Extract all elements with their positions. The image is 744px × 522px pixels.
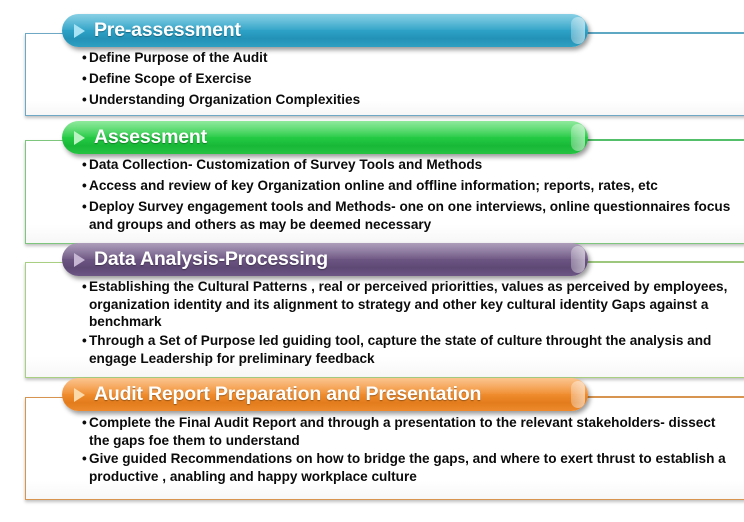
bullet-glyph: • (82, 450, 89, 468)
list-item-text: Define Scope of Exercise (89, 70, 738, 88)
section-header-data-analysis-processing[interactable]: Data Analysis-Processing (62, 243, 588, 276)
play-triangle-icon (74, 388, 85, 402)
list-item: • Through a Set of Purpose led guiding t… (82, 332, 738, 367)
section-bullet-list-audit-report: • Complete the Final Audit Report and th… (82, 414, 738, 487)
section-bullet-list-data-analysis-processing: • Establishing the Cultural Patterns , r… (82, 278, 738, 368)
list-item-text: Give guided Recommendations on how to br… (89, 450, 738, 485)
bar-end-cap (571, 124, 585, 151)
bullet-glyph: • (82, 198, 89, 216)
section-header-audit-report[interactable]: Audit Report Preparation and Presentatio… (62, 378, 588, 411)
slide-canvas: Pre-assessment • Define Purpose of the A… (0, 0, 744, 522)
list-item: • Define Scope of Exercise (82, 70, 738, 88)
section-heading-label: Pre-assessment (94, 19, 241, 42)
list-item: • Define Purpose of the Audit (82, 49, 738, 67)
bullet-glyph: • (82, 414, 89, 432)
bullet-glyph: • (82, 156, 89, 174)
list-item-text: Understanding Organization Complexities (89, 91, 738, 109)
section-header-assessment[interactable]: Assessment (62, 121, 588, 154)
list-item-text: Define Purpose of the Audit (89, 49, 738, 67)
bullet-glyph: • (82, 278, 89, 296)
bullet-glyph: • (82, 91, 89, 109)
section-connector-line-audit-report (585, 396, 744, 398)
list-item: • Understanding Organization Complexitie… (82, 91, 738, 109)
bullet-glyph: • (82, 177, 89, 195)
section-heading-label: Data Analysis-Processing (94, 248, 328, 271)
bar-end-cap (571, 246, 585, 273)
list-item-text: Access and review of key Organization on… (89, 177, 738, 195)
section-bullet-list-assessment: • Data Collection- Customization of Surv… (82, 156, 738, 237)
section-connector-line-data-analysis-processing (585, 261, 744, 263)
bullet-glyph: • (82, 70, 89, 88)
list-item-text: Establishing the Cultural Patterns , rea… (89, 278, 738, 331)
list-item-text: Complete the Final Audit Report and thro… (89, 414, 738, 449)
section-connector-line-pre-assessment (585, 32, 744, 34)
list-item-text: Deploy Survey engagement tools and Metho… (89, 198, 738, 233)
bullet-glyph: • (82, 49, 89, 67)
section-bullet-list-pre-assessment: • Define Purpose of the Audit • Define S… (82, 49, 738, 113)
play-triangle-icon (74, 253, 85, 267)
section-connector-line-assessment (585, 139, 744, 141)
section-header-pre-assessment[interactable]: Pre-assessment (62, 14, 588, 47)
section-heading-label: Audit Report Preparation and Presentatio… (94, 383, 481, 406)
bar-end-cap (571, 17, 585, 44)
list-item: • Data Collection- Customization of Surv… (82, 156, 738, 174)
play-triangle-icon (74, 24, 85, 38)
bullet-glyph: • (82, 332, 89, 350)
list-item: • Give guided Recommendations on how to … (82, 450, 738, 485)
play-triangle-icon (74, 131, 85, 145)
list-item-text: Data Collection- Customization of Survey… (89, 156, 738, 174)
bar-end-cap (571, 381, 585, 408)
section-heading-label: Assessment (94, 126, 207, 149)
list-item-text: Through a Set of Purpose led guiding too… (89, 332, 738, 367)
list-item: • Deploy Survey engagement tools and Met… (82, 198, 738, 233)
list-item: • Establishing the Cultural Patterns , r… (82, 278, 738, 331)
list-item: • Complete the Final Audit Report and th… (82, 414, 738, 449)
list-item: • Access and review of key Organization … (82, 177, 738, 195)
